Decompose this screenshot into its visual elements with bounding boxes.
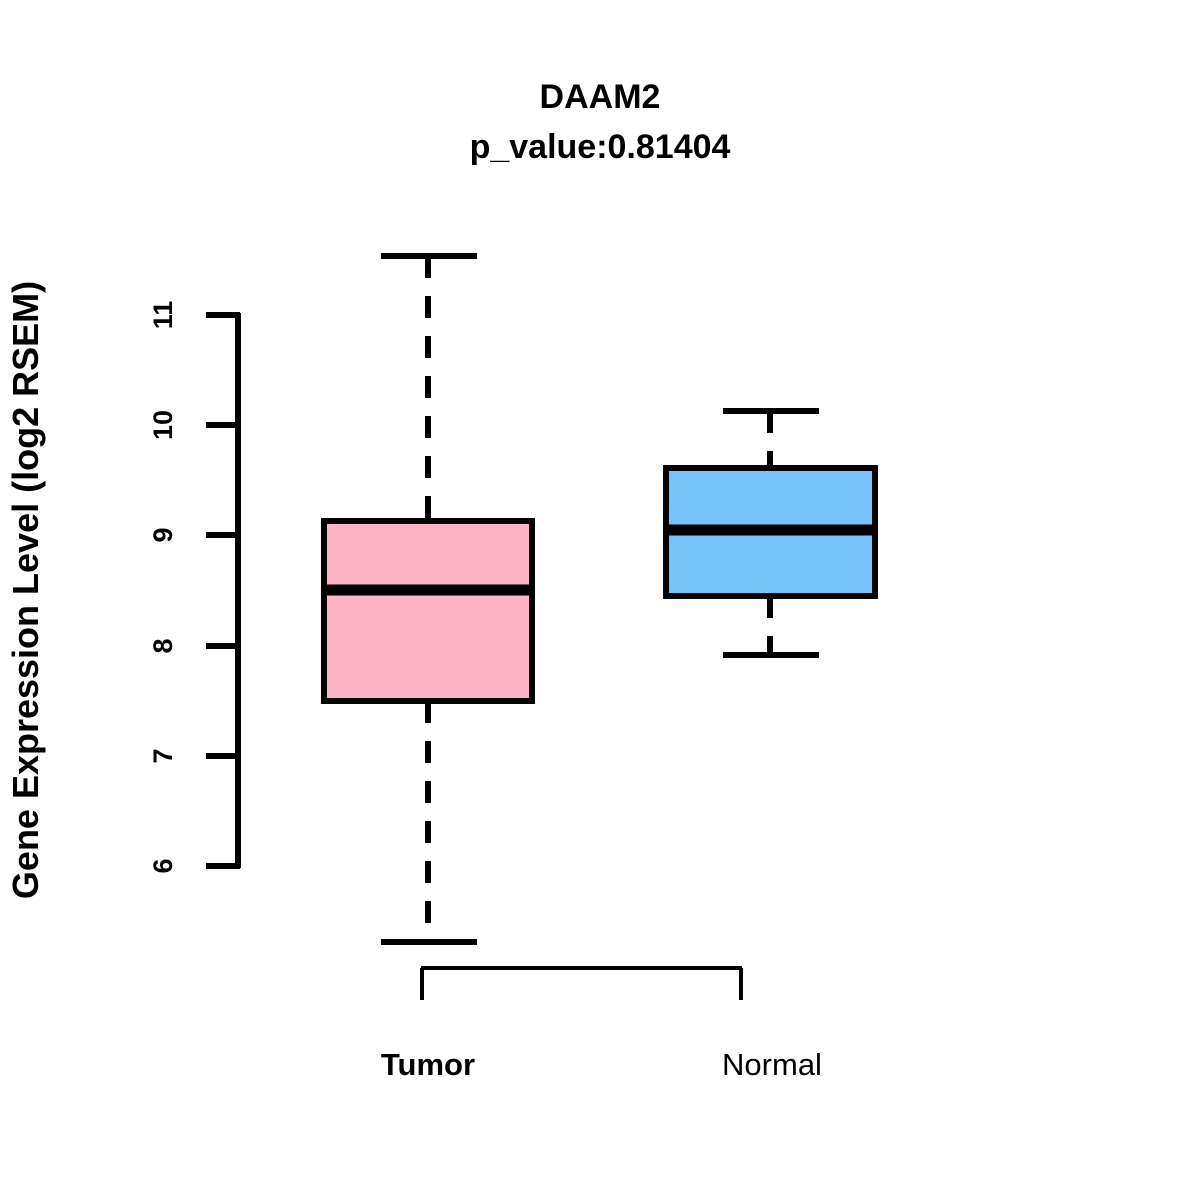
y-tick-label-9: 9 <box>148 527 178 542</box>
tumor-box-rect[interactable] <box>324 521 532 701</box>
y-axis-title: Gene Expression Level (log2 RSEM) <box>5 281 46 899</box>
y-tick-label-7: 7 <box>148 748 178 763</box>
plot-background <box>0 0 1200 1200</box>
y-tick-label-10: 10 <box>148 410 178 440</box>
y-tick-label-6: 6 <box>148 858 178 873</box>
x-label-tumor: Tumor <box>381 1047 475 1082</box>
y-tick-label-8: 8 <box>148 638 178 653</box>
chart-subtitle: p_value:0.81404 <box>470 128 731 166</box>
plot-canvas: DAAM2 p_value:0.81404 Gene Expression Le… <box>0 0 1200 1200</box>
boxplot-figure: DAAM2 p_value:0.81404 Gene Expression Le… <box>0 0 1200 1200</box>
x-label-normal: Normal <box>722 1047 822 1082</box>
y-tick-label-11: 11 <box>148 301 178 330</box>
chart-title: DAAM2 <box>540 78 661 116</box>
